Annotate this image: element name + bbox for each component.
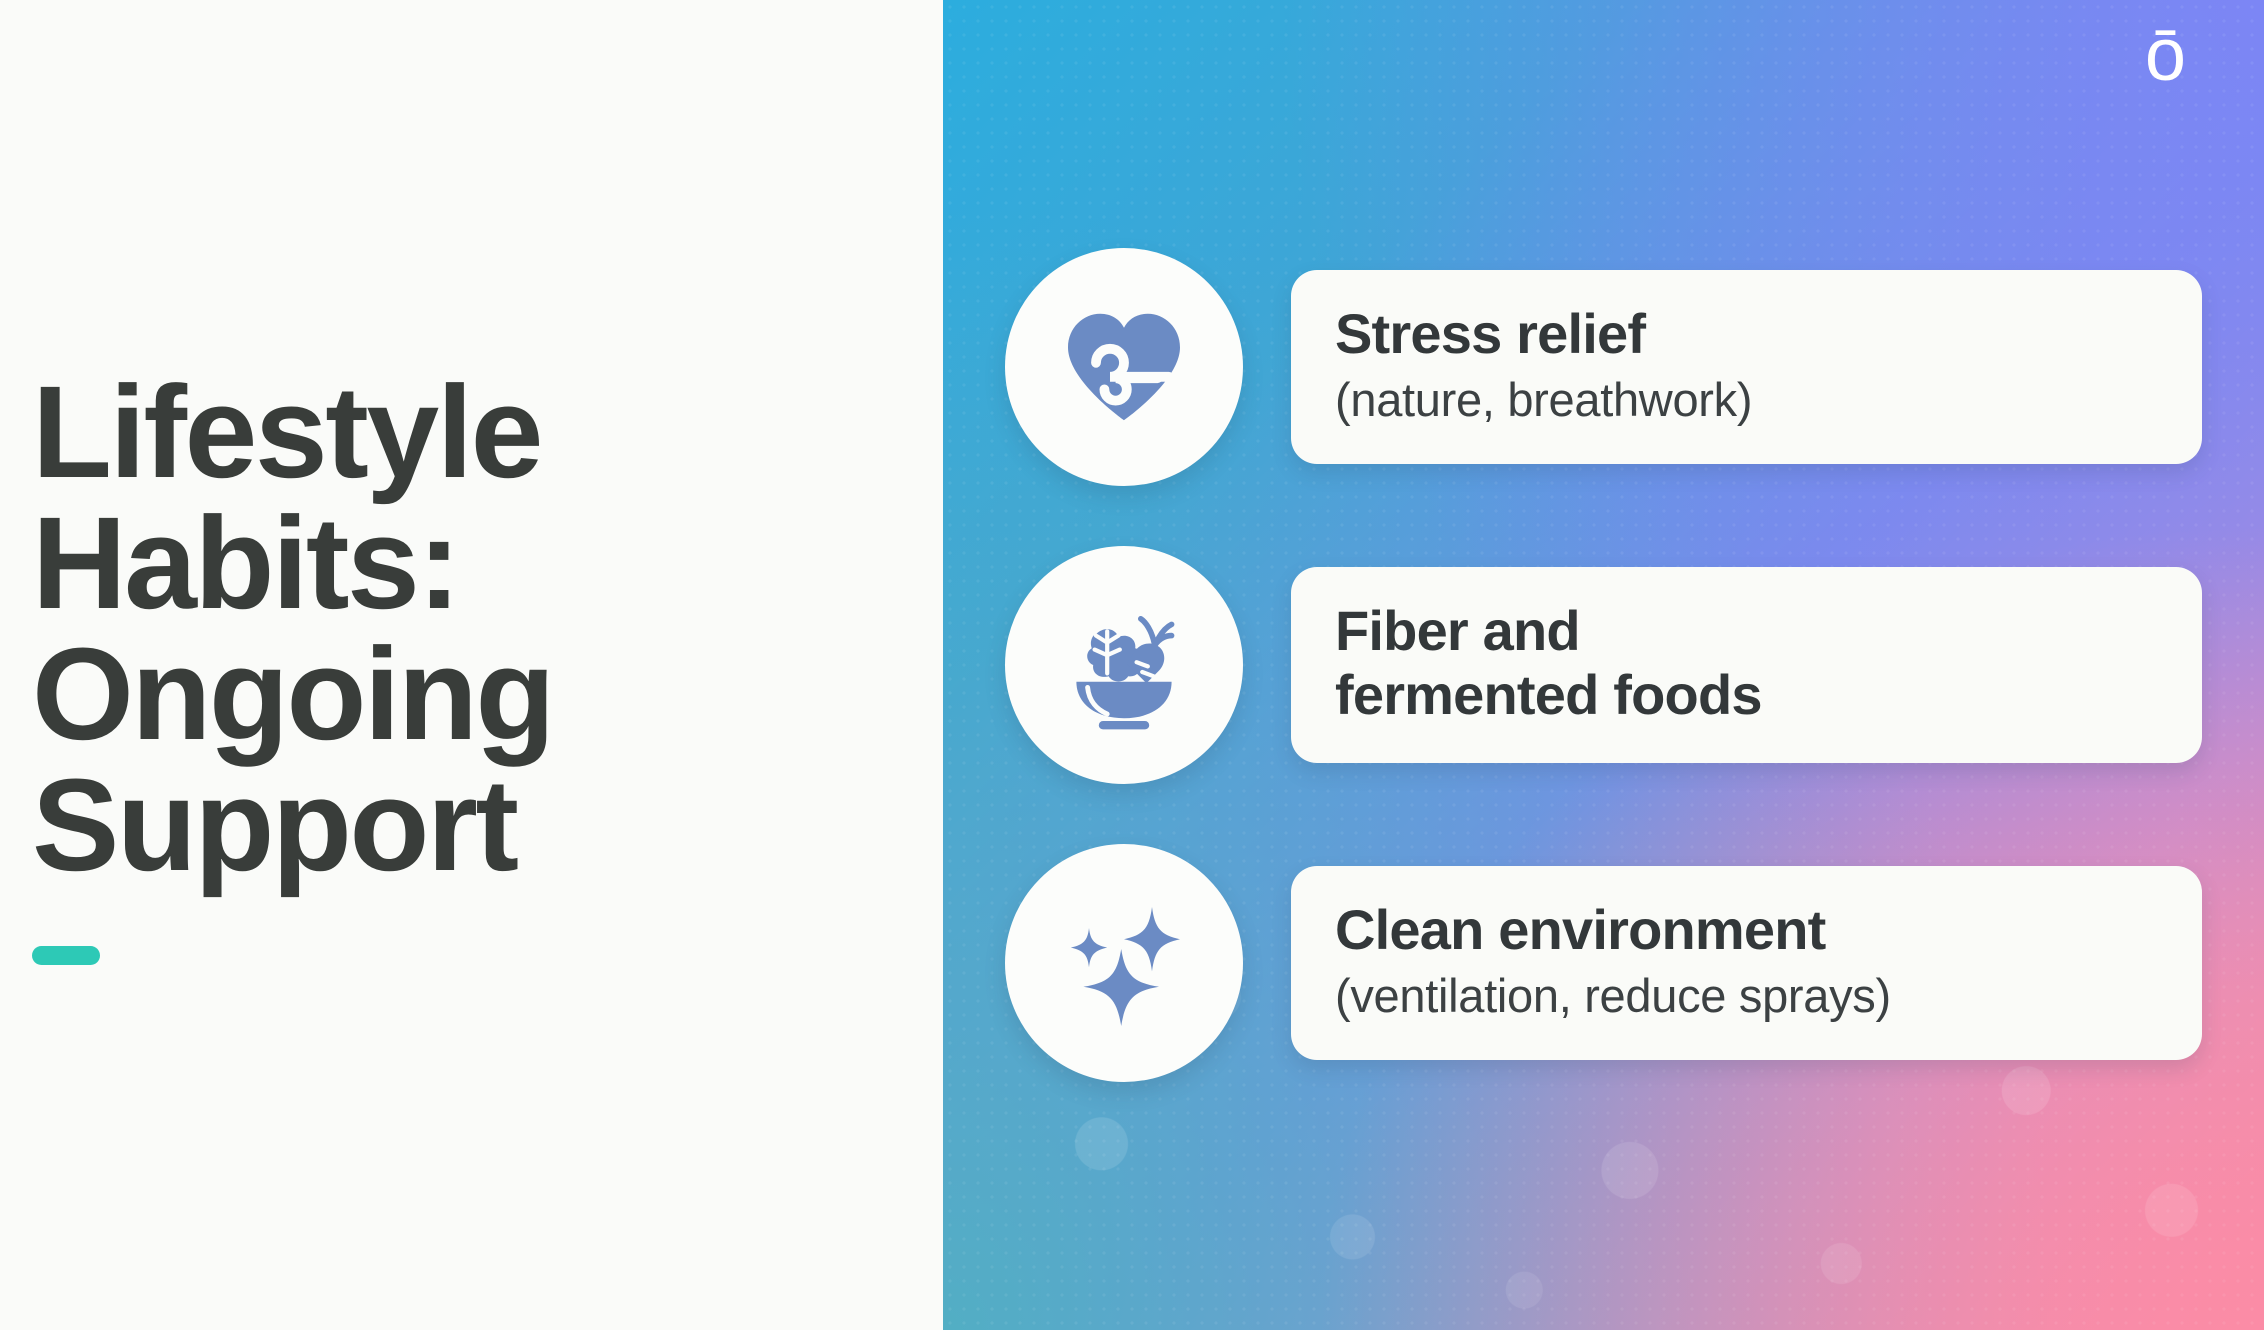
list-item-title: Clean environment [1335,898,2158,962]
list-item: Clean environment (ventilation, reduce s… [1005,844,2202,1082]
list-item-subtitle: (nature, breathwork) [1335,372,2158,428]
list-item: Fiber and fermented foods [1005,546,2202,784]
page-title: Lifestyle Habits: Ongoing Support [32,366,553,890]
items-list: Stress relief (nature, breathwork) [943,0,2264,1330]
left-title-panel: Lifestyle Habits: Ongoing Support [0,0,943,1330]
list-item-title: Fiber and fermented foods [1335,599,2158,727]
list-item-subtitle: (ventilation, reduce sprays) [1335,968,2158,1024]
right-gradient-panel: ō Stress relief (nature, breathwork) [943,0,2264,1330]
heart-breath-icon [1005,248,1243,486]
list-item: Stress relief (nature, breathwork) [1005,248,2202,486]
list-item-card[interactable]: Fiber and fermented foods [1291,567,2202,763]
list-item-title: Stress relief [1335,302,2158,366]
slide-root: Lifestyle Habits: Ongoing Support ō Stre… [0,0,2264,1330]
list-item-card[interactable]: Stress relief (nature, breathwork) [1291,270,2202,464]
salad-bowl-icon [1005,546,1243,784]
sparkles-icon [1005,844,1243,1082]
list-item-card[interactable]: Clean environment (ventilation, reduce s… [1291,866,2202,1060]
accent-bar [32,946,100,965]
